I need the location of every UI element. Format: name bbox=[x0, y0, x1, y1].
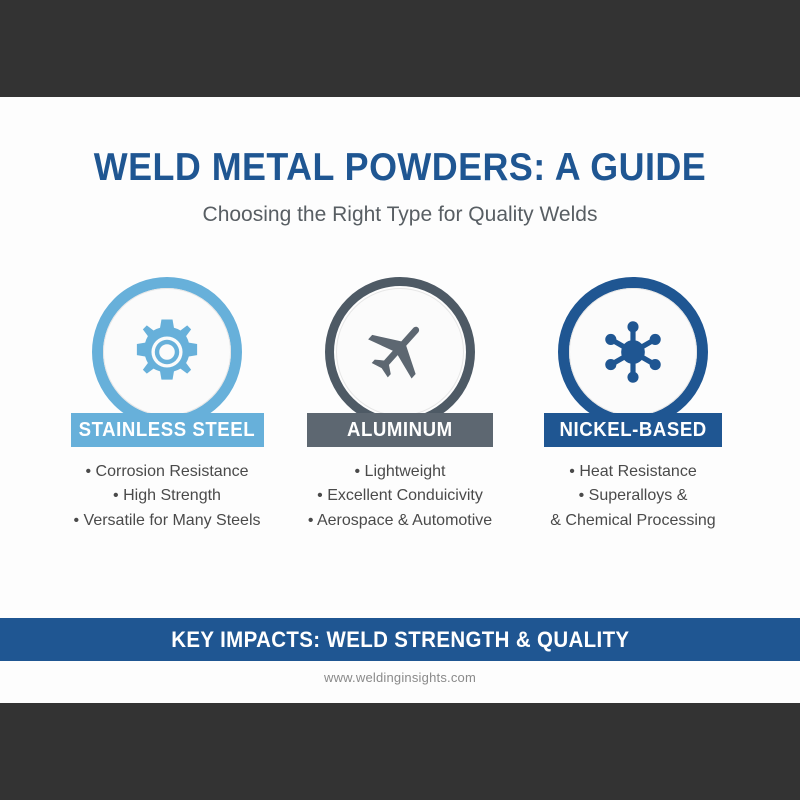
bullets-stainless-steel: • Corrosion Resistance • High Strength •… bbox=[73, 460, 260, 533]
label-bar-aluminum: ALUMINUM bbox=[307, 413, 493, 447]
infographic-canvas: WELD METAL POWDERS: A GUIDE Choosing the… bbox=[0, 97, 800, 703]
column-nickel-based: NICKEL-BASED • Heat Resistance • Superal… bbox=[517, 277, 750, 533]
site-url: www.weldinginsights.com bbox=[0, 670, 800, 685]
bullets-nickel-based: • Heat Resistance • Superalloys & & Chem… bbox=[550, 460, 715, 533]
bullet-item: • Aerospace & Automotive bbox=[308, 509, 492, 533]
letterbox-top bbox=[0, 0, 800, 97]
columns-container: STAINLESS STEEL • Corrosion Resistance •… bbox=[0, 277, 800, 533]
airplane-icon bbox=[360, 312, 440, 392]
bullets-aluminum: • Lightweight • Excellent Conduicivity •… bbox=[308, 460, 492, 533]
bullet-item: • Superalloys & bbox=[550, 484, 715, 508]
badge-nickel-based bbox=[558, 277, 708, 427]
page-title: WELD METAL POWDERS: A GUIDE bbox=[32, 147, 768, 190]
badge-aluminum bbox=[325, 277, 475, 427]
bullet-item: • Lightweight bbox=[308, 460, 492, 484]
footer-banner: KEY IMPACTS: WELD STRENGTH & QUALITY bbox=[0, 618, 800, 661]
infographic-root: WELD METAL POWDERS: A GUIDE Choosing the… bbox=[0, 0, 800, 800]
bullet-item: • Heat Resistance bbox=[550, 460, 715, 484]
letterbox-bottom bbox=[0, 703, 800, 800]
label-text-nickel-based: NICKEL-BASED bbox=[559, 419, 706, 442]
bullet-item: • High Strength bbox=[73, 484, 260, 508]
gear-icon bbox=[127, 312, 207, 392]
label-bar-nickel-based: NICKEL-BASED bbox=[544, 413, 722, 447]
column-stainless-steel: STAINLESS STEEL • Corrosion Resistance •… bbox=[51, 277, 284, 533]
molecule-icon bbox=[593, 312, 673, 392]
badge-stainless-steel bbox=[92, 277, 242, 427]
bullet-item: • Excellent Conduicivity bbox=[308, 484, 492, 508]
label-text-aluminum: ALUMINUM bbox=[347, 419, 453, 442]
label-bar-stainless-steel: STAINLESS STEEL bbox=[71, 413, 264, 447]
footer-banner-text: KEY IMPACTS: WELD STRENGTH & QUALITY bbox=[171, 627, 629, 653]
column-aluminum: ALUMINUM • Lightweight • Excellent Condu… bbox=[284, 277, 517, 533]
label-text-stainless-steel: STAINLESS STEEL bbox=[79, 419, 255, 442]
bullet-item: & Chemical Processing bbox=[550, 509, 715, 533]
header: WELD METAL POWDERS: A GUIDE Choosing the… bbox=[0, 147, 800, 227]
bullet-item: • Versatile for Many Steels bbox=[73, 509, 260, 533]
page-subtitle: Choosing the Right Type for Quality Weld… bbox=[0, 202, 800, 227]
bullet-item: • Corrosion Resistance bbox=[73, 460, 260, 484]
